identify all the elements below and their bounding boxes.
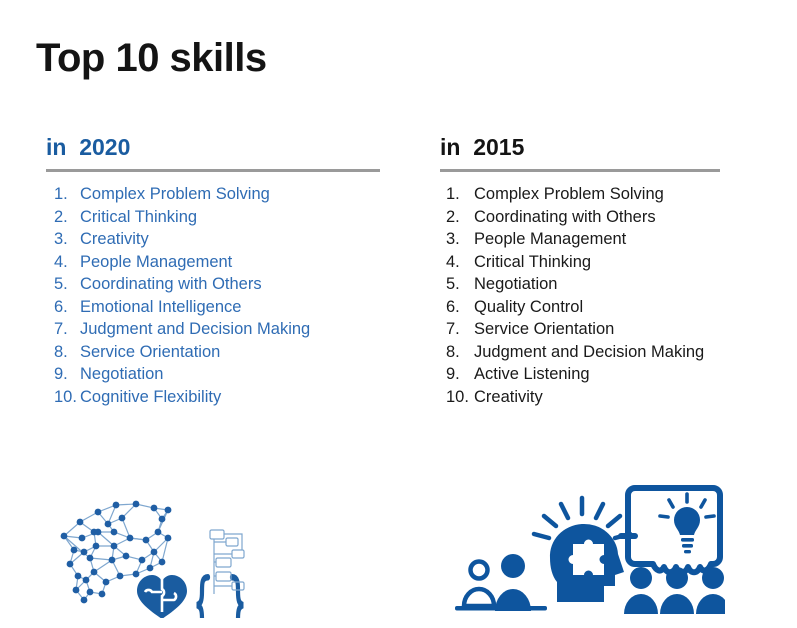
list-item[interactable]: 9. Negotiation bbox=[46, 363, 382, 386]
skill-label: People Management bbox=[474, 228, 626, 251]
list-item[interactable]: 8. Service Orientation bbox=[46, 341, 382, 364]
skill-rank: 8. bbox=[46, 341, 80, 364]
skill-rank: 5. bbox=[440, 273, 474, 296]
skill-label: Creativity bbox=[474, 386, 543, 409]
list-item[interactable]: 7. Service Orientation bbox=[440, 318, 770, 341]
list-item[interactable]: 7. Judgment and Decision Making bbox=[46, 318, 382, 341]
group-of-three-people-icon bbox=[624, 567, 725, 614]
list-item[interactable]: 10. Creativity bbox=[440, 386, 770, 409]
skill-rank: 10. bbox=[440, 386, 474, 409]
list-item[interactable]: 5. Coordinating with Others bbox=[46, 273, 382, 296]
skill-label: Critical Thinking bbox=[80, 206, 197, 229]
list-item[interactable]: 3. People Management bbox=[440, 228, 770, 251]
two-people-at-desk-icon bbox=[455, 554, 547, 611]
list-item[interactable]: 9. Active Listening bbox=[440, 363, 770, 386]
skill-label: Cognitive Flexibility bbox=[80, 386, 221, 409]
skill-label: Negotiation bbox=[474, 273, 557, 296]
list-item[interactable]: 5. Negotiation bbox=[440, 273, 770, 296]
column-2015-header: in 2015 bbox=[440, 134, 770, 169]
list-item[interactable]: 3. Creativity bbox=[46, 228, 382, 251]
skill-list-2015: 1. Complex Problem Solving 2. Coordinati… bbox=[440, 183, 770, 408]
skill-label: Emotional Intelligence bbox=[80, 296, 241, 319]
list-item[interactable]: 6. Emotional Intelligence bbox=[46, 296, 382, 319]
skill-label: Critical Thinking bbox=[474, 251, 591, 274]
column-2015-divider bbox=[440, 169, 720, 172]
slide-canvas: Top 10 skills in 2020 1. Complex Problem… bbox=[0, 0, 797, 628]
lightbulb-speech-bubble-icon bbox=[621, 488, 720, 572]
skill-label: Coordinating with Others bbox=[474, 206, 656, 229]
skill-label: Service Orientation bbox=[474, 318, 614, 341]
skill-rank: 9. bbox=[46, 363, 80, 386]
skill-rank: 6. bbox=[440, 296, 474, 319]
skill-label: Complex Problem Solving bbox=[474, 183, 664, 206]
skill-label: Judgment and Decision Making bbox=[474, 341, 704, 364]
skill-rank: 8. bbox=[440, 341, 474, 364]
skill-rank: 4. bbox=[440, 251, 474, 274]
list-item[interactable]: 1. Complex Problem Solving bbox=[440, 183, 770, 206]
column-2015: in 2015 1. Complex Problem Solving 2. Co… bbox=[440, 134, 770, 408]
skill-label: Quality Control bbox=[474, 296, 583, 319]
page-title: Top 10 skills bbox=[36, 36, 267, 80]
list-item[interactable]: 4. People Management bbox=[46, 251, 382, 274]
list-item[interactable]: 2. Coordinating with Others bbox=[440, 206, 770, 229]
skill-label: Creativity bbox=[80, 228, 149, 251]
skill-list-2020: 1. Complex Problem Solving 2. Critical T… bbox=[46, 183, 382, 408]
skill-rank: 4. bbox=[46, 251, 80, 274]
skill-rank: 2. bbox=[440, 206, 474, 229]
skill-label: Active Listening bbox=[474, 363, 590, 386]
collaboration-illustration bbox=[455, 478, 725, 618]
skill-rank: 3. bbox=[46, 228, 80, 251]
skill-label: Service Orientation bbox=[80, 341, 220, 364]
skill-label: Judgment and Decision Making bbox=[80, 318, 310, 341]
column-2020-divider bbox=[46, 169, 380, 172]
skill-label: Complex Problem Solving bbox=[80, 183, 270, 206]
code-braces-flowchart-icon bbox=[197, 530, 244, 618]
list-item[interactable]: 2. Critical Thinking bbox=[46, 206, 382, 229]
list-item[interactable]: 8. Judgment and Decision Making bbox=[440, 341, 770, 364]
skill-rank: 1. bbox=[46, 183, 80, 206]
skill-rank: 10. bbox=[46, 386, 80, 409]
skill-label: Coordinating with Others bbox=[80, 273, 262, 296]
skill-rank: 9. bbox=[440, 363, 474, 386]
skill-label: People Management bbox=[80, 251, 232, 274]
network-brain-illustration bbox=[50, 488, 250, 618]
head-with-puzzle-piece-icon bbox=[534, 498, 630, 602]
skill-rank: 2. bbox=[46, 206, 80, 229]
skill-rank: 1. bbox=[440, 183, 474, 206]
skill-rank: 5. bbox=[46, 273, 80, 296]
skill-rank: 3. bbox=[440, 228, 474, 251]
skill-rank: 6. bbox=[46, 296, 80, 319]
skill-label: Negotiation bbox=[80, 363, 163, 386]
list-item[interactable]: 4. Critical Thinking bbox=[440, 251, 770, 274]
column-2020-header: in 2020 bbox=[46, 134, 382, 169]
list-item[interactable]: 1. Complex Problem Solving bbox=[46, 183, 382, 206]
list-item[interactable]: 10. Cognitive Flexibility bbox=[46, 386, 382, 409]
puzzle-heart-icon bbox=[137, 575, 187, 618]
skill-rank: 7. bbox=[440, 318, 474, 341]
column-2020: in 2020 1. Complex Problem Solving 2. Cr… bbox=[46, 134, 382, 408]
list-item[interactable]: 6. Quality Control bbox=[440, 296, 770, 319]
skill-rank: 7. bbox=[46, 318, 80, 341]
